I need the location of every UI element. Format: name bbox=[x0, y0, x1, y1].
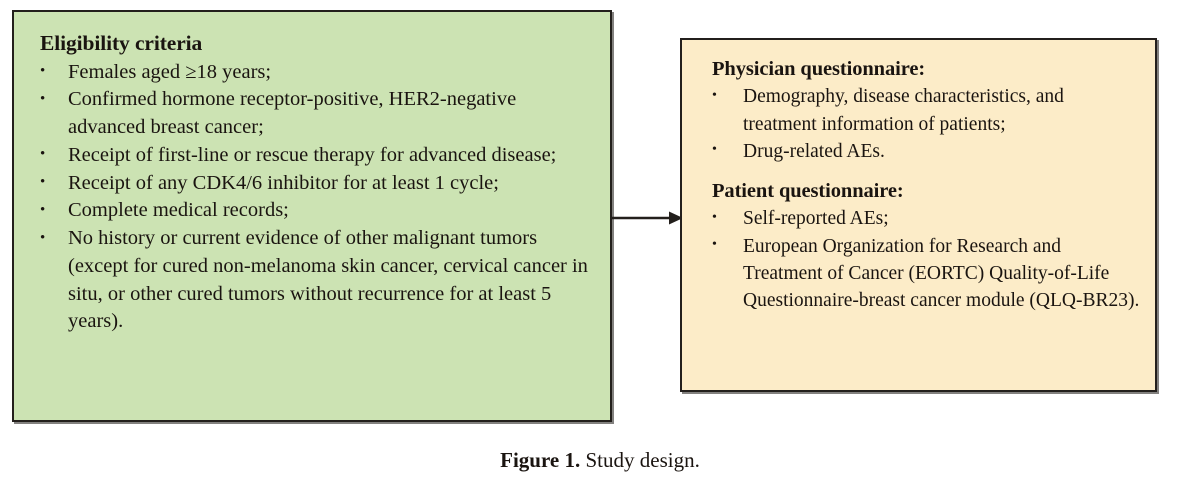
list-item: • Self-reported AEs; bbox=[712, 205, 1141, 232]
bullet-icon: • bbox=[40, 58, 45, 85]
list-item-text: Complete medical records; bbox=[68, 197, 596, 225]
list-item: • Confirmed hormone receptor-positive, H… bbox=[40, 86, 596, 142]
list-item-text: Demography, disease characteristics, and… bbox=[743, 83, 1141, 138]
bullet-icon: • bbox=[40, 141, 45, 168]
patient-questionnaire-heading: Patient questionnaire: bbox=[712, 178, 1141, 204]
questionnaire-box: Physician questionnaire: • Demography, d… bbox=[680, 38, 1157, 392]
bullet-icon: • bbox=[712, 205, 717, 231]
list-item-text: Females aged ≥18 years; bbox=[68, 59, 596, 87]
bullet-icon: • bbox=[712, 137, 717, 163]
list-item-text: European Organization for Research and T… bbox=[743, 233, 1141, 315]
right-arrow-icon bbox=[610, 206, 684, 230]
physician-bullet-list: • Demography, disease characteristics, a… bbox=[712, 83, 1141, 165]
study-design-figure: Eligibility criteria • Females aged ≥18 … bbox=[0, 0, 1200, 492]
list-item: • Complete medical records; bbox=[40, 197, 596, 225]
physician-questionnaire-heading: Physician questionnaire: bbox=[712, 56, 1141, 82]
patient-bullet-list: • Self-reported AEs; • European Organiza… bbox=[712, 205, 1141, 314]
eligibility-bullet-list: • Females aged ≥18 years; • Confirmed ho… bbox=[40, 59, 596, 337]
list-item-text: Confirmed hormone receptor-positive, HER… bbox=[68, 86, 596, 142]
bullet-icon: • bbox=[40, 169, 45, 196]
list-item: • Drug-related AEs. bbox=[712, 138, 1141, 165]
list-item-text: Receipt of any CDK4/6 inhibitor for at l… bbox=[68, 170, 596, 198]
bullet-icon: • bbox=[712, 83, 717, 109]
bullet-icon: • bbox=[40, 197, 45, 224]
figure-caption-text: Study design. bbox=[580, 448, 700, 472]
list-item-text: No history or current evidence of other … bbox=[68, 225, 596, 336]
list-item-text: Self-reported AEs; bbox=[743, 205, 1141, 232]
list-item: • Demography, disease characteristics, a… bbox=[712, 83, 1141, 138]
eligibility-heading: Eligibility criteria bbox=[40, 30, 596, 58]
bullet-icon: • bbox=[712, 232, 717, 258]
list-item-text: Drug-related AEs. bbox=[743, 138, 1141, 165]
list-item: • European Organization for Research and… bbox=[712, 233, 1141, 315]
list-item-text: Receipt of first-line or rescue therapy … bbox=[68, 142, 596, 170]
bullet-icon: • bbox=[40, 225, 45, 252]
list-item: • Receipt of first-line or rescue therap… bbox=[40, 142, 596, 170]
figure-caption: Figure 1. Study design. bbox=[0, 448, 1200, 473]
list-item: • Females aged ≥18 years; bbox=[40, 59, 596, 87]
bullet-icon: • bbox=[40, 86, 45, 113]
eligibility-criteria-box: Eligibility criteria • Females aged ≥18 … bbox=[12, 10, 612, 422]
figure-caption-label: Figure 1. bbox=[500, 448, 580, 472]
list-item: • No history or current evidence of othe… bbox=[40, 225, 596, 336]
list-item: • Receipt of any CDK4/6 inhibitor for at… bbox=[40, 170, 596, 198]
